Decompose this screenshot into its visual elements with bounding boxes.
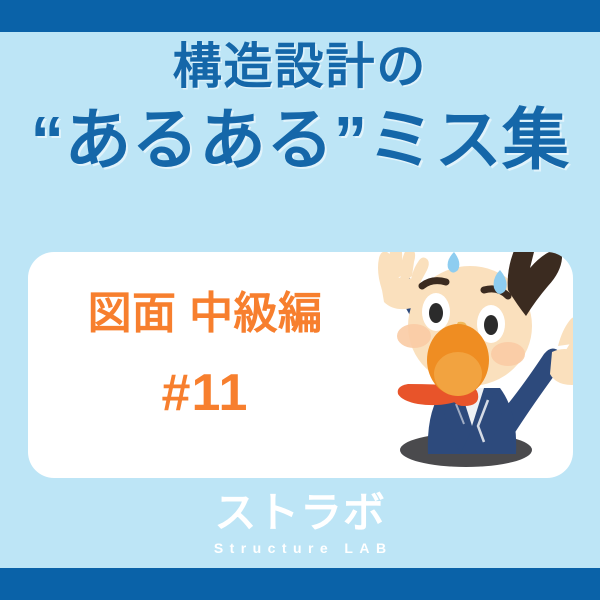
top-accent-bar xyxy=(0,0,600,32)
headline-line-2: “あるある”ミス集 xyxy=(0,103,600,178)
brand-logo-subtitle: Structure LAB xyxy=(0,541,600,555)
bottom-accent-bar xyxy=(0,568,600,600)
content-card xyxy=(28,252,573,478)
headline-block: 構造設計の “あるある”ミス集 xyxy=(0,40,600,178)
brand-logo: ストラボ Structure LAB xyxy=(0,492,600,555)
headline-line-1: 構造設計の xyxy=(0,40,600,95)
card-episode-number: #11 xyxy=(50,367,360,419)
card-subtitle: 図面 中級編 xyxy=(50,292,360,336)
brand-logo-mark: ストラボ xyxy=(0,492,600,534)
thumbnail-canvas: 構造設計の “あるある”ミス集 xyxy=(0,0,600,600)
